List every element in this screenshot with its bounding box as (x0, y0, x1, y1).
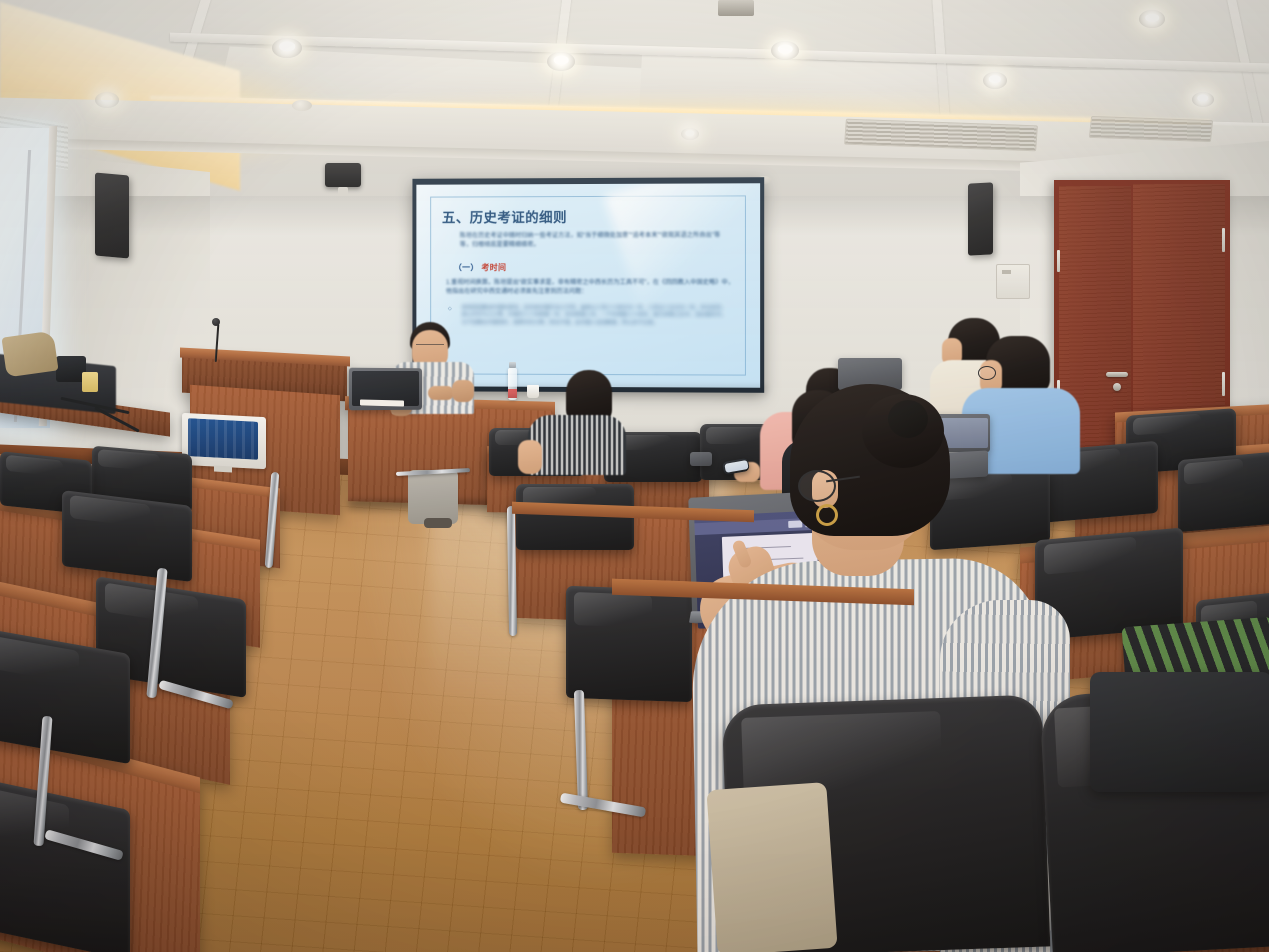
downlight (1192, 92, 1214, 107)
chair-center[interactable] (566, 586, 692, 702)
presenter-hand (428, 386, 454, 400)
downlight (681, 128, 699, 140)
slide-quote: 欲知回回教进中国的源流，应先知中国历法之不同，盖西以三百六十四日为一年，三百五十… (462, 305, 730, 328)
papers-on-table (360, 399, 404, 406)
downlight (547, 52, 575, 71)
downlight (95, 92, 119, 108)
attendee-front-left-arm (518, 440, 542, 474)
foreground-glasses (798, 470, 836, 502)
chair-right[interactable] (1178, 452, 1269, 532)
reflector-panel (1, 331, 58, 378)
door-hinge (1057, 250, 1060, 272)
chair-left[interactable] (62, 490, 192, 582)
lecture-room-photo: 五、历史考证的细则 陈垣在历史考证中随时归纳一些考证方法，如“当于细微处加意”“… (0, 0, 1269, 952)
hair-tie (888, 400, 928, 438)
ceiling-projector (718, 0, 754, 16)
door-handle[interactable] (1106, 372, 1128, 377)
control-monitor-screen[interactable] (188, 418, 258, 460)
slide-subheading-marker: （一） (454, 263, 479, 272)
yellow-object (82, 372, 98, 392)
attendee-front-left-shirt (528, 415, 626, 475)
projection-screen-surface: 五、历史考证的细则 陈垣在历史考证中随时归纳一些考证方法，如“当于细微处加意”“… (416, 183, 760, 388)
water-bottle-cap (509, 362, 516, 368)
downlight (272, 38, 302, 58)
slide-quote-bullet: ◇ (448, 306, 452, 312)
downlight (771, 41, 799, 60)
hvac-vent (1089, 116, 1213, 142)
downlight (1139, 10, 1165, 28)
smoke-detector (292, 100, 312, 111)
ceiling-speaker (325, 163, 361, 187)
dark-bag[interactable] (1090, 672, 1269, 792)
slide-point: 1.重视时间换算。陈垣提出“欲实事求是，非有精密之中西长历为工具不可”，在《回回… (446, 279, 738, 296)
slide-subheading: （一） 考时间 (454, 262, 507, 273)
control-monitor-stand (214, 466, 232, 473)
presenter-glasses (416, 344, 444, 351)
laptop-pink-row[interactable] (690, 452, 712, 466)
door-hinge (1222, 372, 1225, 396)
slide-paragraph: 陈垣在历史考证中随时归纳一些考证方法，如“当于细微处加意”“追考本末”“欲观其语… (460, 232, 732, 250)
wall-speaker-right (968, 182, 993, 255)
paper-cup[interactable] (527, 385, 539, 398)
water-bottle-label (508, 389, 517, 398)
attendee-blue-glasses (978, 366, 996, 380)
podium-microphone-head (212, 318, 220, 326)
foreground-earring (816, 504, 838, 526)
wall-speaker-left (95, 173, 129, 259)
slide-subheading-text: 考时间 (481, 263, 506, 272)
presenter-shoe (424, 518, 452, 528)
downlight (983, 72, 1007, 89)
wall-panel-slot (1002, 270, 1011, 274)
presenter-arm-right (452, 380, 474, 402)
door-hinge (1222, 228, 1225, 252)
door-lock[interactable] (1113, 383, 1121, 391)
ribbon-button[interactable] (788, 520, 802, 528)
projection-screen: 五、历史考证的细则 陈垣在历史考证中随时归纳一些考证方法，如“当于细微处加意”“… (412, 177, 764, 393)
presenter-trousers (408, 470, 458, 524)
slide-title: 五、历史考证的细则 (442, 206, 567, 226)
tote-bag[interactable] (706, 782, 837, 952)
